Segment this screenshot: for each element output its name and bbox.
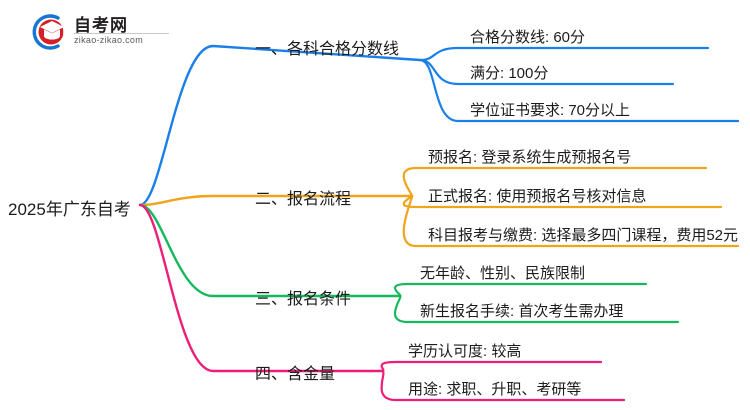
logo-subtitle: zikao-zikao.com <box>74 35 143 45</box>
mindmap-leaf[interactable]: 用途: 求职、升职、考研等 <box>408 378 581 399</box>
mindmap-branch-1[interactable]: 一、各科合格分数线 <box>255 35 399 59</box>
mindmap-leaf[interactable]: 学位证书要求: 70分以上 <box>470 99 630 120</box>
mindmap-branch-3[interactable]: 三、报名条件 <box>255 285 351 309</box>
mindmap-root-label: 2025年广东自考 <box>8 195 131 220</box>
logo-wordmark: 自考网 zikao-zikao.com <box>74 10 170 52</box>
mindmap-connector <box>420 48 708 60</box>
mindmap-leaf[interactable]: 新生报名手续: 首次考生需办理 <box>420 300 623 321</box>
mindmap-leaf[interactable]: 合格分数线: 60分 <box>470 26 585 47</box>
mindmap-leaf[interactable]: 无年龄、性别、民族限制 <box>420 262 585 283</box>
mindmap-leaf[interactable]: 满分: 100分 <box>470 62 548 83</box>
graduation-cap-icon <box>28 12 70 52</box>
site-logo: 自考网 zikao-zikao.com <box>28 10 168 54</box>
mindmap-canvas: 自考网 zikao-zikao.com 2025年广东自考 一、各科合格分数线合… <box>0 0 750 410</box>
mindmap-leaf[interactable]: 学历认可度: 较高 <box>408 340 521 361</box>
mindmap-leaf[interactable]: 科目报考与缴费: 选择最多四门课程，费用52元 <box>428 224 738 245</box>
logo-divider <box>74 33 169 34</box>
mindmap-leaf[interactable]: 预报名: 登录系统生成预报名号 <box>428 146 631 167</box>
mindmap-connector <box>382 362 601 371</box>
mindmap-connector <box>140 205 400 296</box>
mindmap-branch-4[interactable]: 四、含金量 <box>255 360 335 384</box>
mindmap-leaf[interactable]: 正式报名: 使用预报名号核对信息 <box>428 185 646 206</box>
mindmap-branch-2[interactable]: 二、报名流程 <box>255 185 351 209</box>
mindmap-connector <box>395 284 646 296</box>
mindmap-connector <box>140 46 420 205</box>
